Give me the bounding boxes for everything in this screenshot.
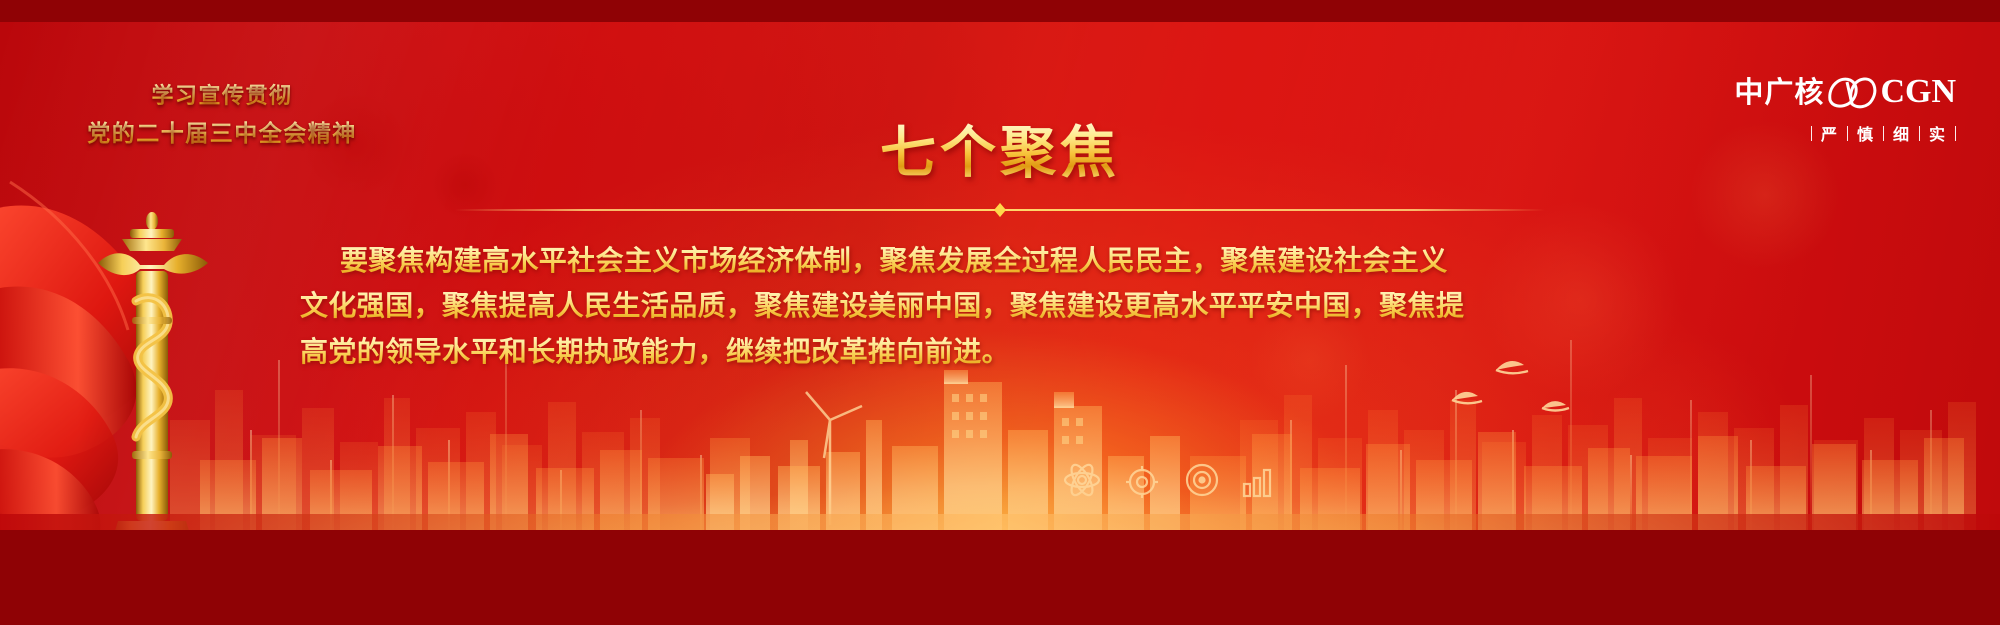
bottom-bleed-bar <box>0 530 2000 625</box>
logo-english-name: CGN <box>1880 75 1956 109</box>
body-paragraph: 要聚焦构建高水平社会主义市场经济体制，聚焦发展全过程人民民主，聚焦建设社会主义 … <box>300 238 1700 374</box>
body-line-3: 高党的领导水平和长期执政能力，继续把改革推向前进。 <box>300 329 1700 374</box>
logo-chinese-name: 中广核 <box>1734 78 1824 107</box>
body-line-2: 文化强国，聚焦提高人民生活品质，聚焦建设美丽中国，聚焦建设更高水平平安中国，聚焦… <box>300 283 1700 328</box>
logo-row: 中广核 CGN <box>1716 74 1956 110</box>
gold-divider <box>455 203 1545 217</box>
divider-diamond-icon <box>994 203 1006 217</box>
propaganda-banner: 学习宣传贯彻 党的二十届三中全会精神 中广核 CGN 严 慎 细 实 七个聚焦 <box>0 0 2000 625</box>
page-title: 七个聚焦 <box>0 108 2000 189</box>
body-line-1: 要聚焦构建高水平社会主义市场经济体制，聚焦发展全过程人民民主，聚焦建设社会主义 <box>300 238 1700 283</box>
top-bleed-bar <box>0 0 2000 22</box>
title-text: 七个聚焦 <box>880 121 1120 184</box>
cgn-swoosh-icon <box>1826 74 1878 110</box>
